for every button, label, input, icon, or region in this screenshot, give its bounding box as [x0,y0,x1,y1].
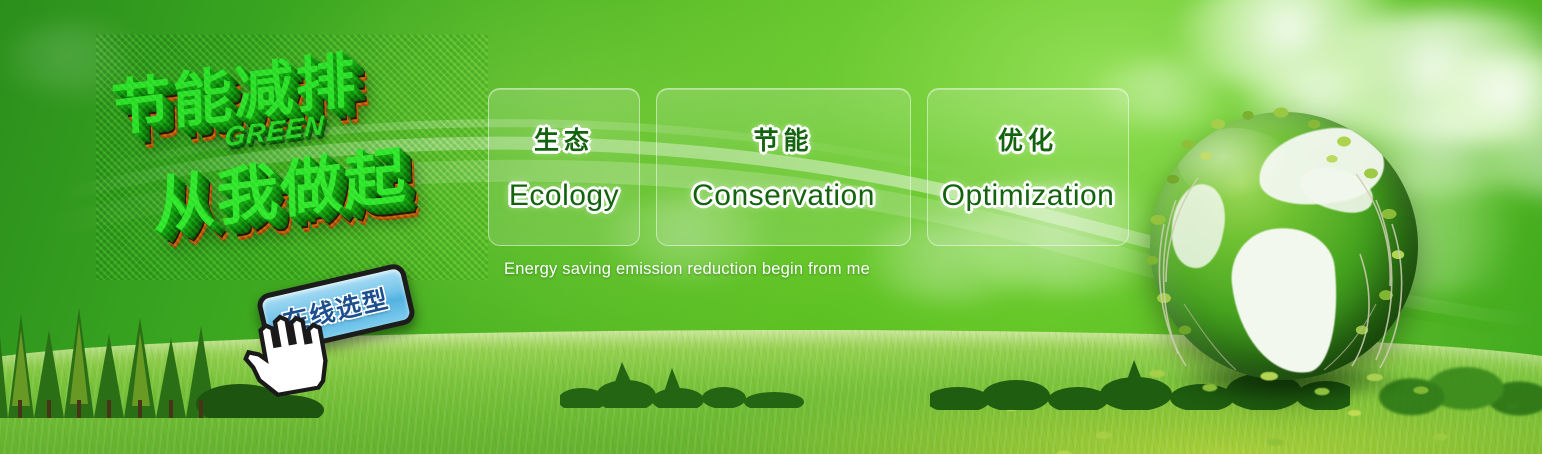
feature-card-title-en: Optimization [942,179,1115,213]
headline-line-2: 从我做起 [151,124,408,245]
ivy-globe-artwork [1124,104,1444,434]
feature-card-title-cn: 优化 [998,121,1058,157]
headline-artwork: 节能减排 GREEN 从我做起 [96,34,488,280]
hand-pointer-icon [231,300,348,403]
cloud-icon [1176,0,1426,94]
cloud-icon [1486,128,1542,198]
globe-base-leaf-litter [1124,348,1454,412]
feature-card-title-en: Ecology [509,179,619,213]
feature-card-title-cn: 节能 [753,121,813,157]
eco-promo-banner: 节能减排 GREEN 从我做起 生态 Ecology 节能 Conservati… [0,0,1542,454]
feature-card-title-cn: 生态 [534,121,594,157]
feature-card-ecology[interactable]: 生态 Ecology [488,88,640,246]
banner-tagline: Energy saving emission reduction begin f… [504,260,870,279]
online-selection-cta-group[interactable]: 在线选型 [252,272,428,384]
feature-card-list: 生态 Ecology 节能 Conservation 优化 Optimizati… [488,88,1129,246]
feature-card-conservation[interactable]: 节能 Conservation [656,88,911,246]
feature-card-title-en: Conservation [692,179,875,213]
feature-card-optimization[interactable]: 优化 Optimization [927,88,1129,246]
